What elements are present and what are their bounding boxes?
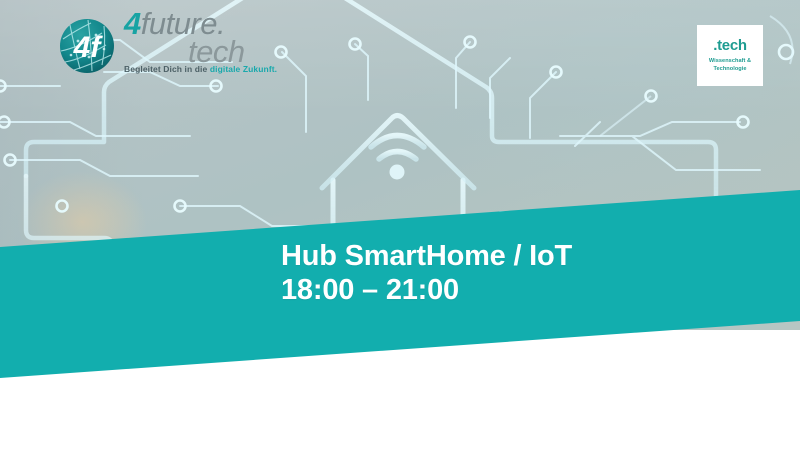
svg-text:4f: 4f	[73, 31, 104, 64]
tech-badge-subtitle-line-2: Technologie	[709, 65, 751, 73]
brand-wordmark: 4future. tech Begleitet Dich in die digi…	[124, 8, 304, 78]
tech-badge-subtitle: Wissenschaft & Technologie	[709, 57, 751, 74]
tagline-highlight: digitale Zukunft.	[210, 64, 277, 74]
tech-badge-title: .tech	[713, 38, 747, 53]
poster-canvas: 4f 4future. tech Begleitet Dich in die d…	[0, 0, 800, 450]
wordmark-line-2: tech	[188, 36, 304, 67]
tech-badge-subtitle-line-1: Wissenschaft &	[709, 57, 751, 65]
banner-text: Hub SmartHome / IoT 18:00 – 21:00	[281, 240, 572, 307]
banner-title: Hub SmartHome / IoT	[281, 240, 572, 274]
wordmark-number: 4	[124, 6, 141, 41]
banner-time-range: 18:00 – 21:00	[281, 274, 572, 308]
4f-sphere-logo: 4f	[58, 17, 116, 75]
tagline-prefix: Begleitet Dich in die	[124, 64, 210, 74]
tech-badge: .tech Wissenschaft & Technologie	[697, 25, 763, 86]
brand-tagline: Begleitet Dich in die digitale Zukunft.	[124, 65, 277, 74]
